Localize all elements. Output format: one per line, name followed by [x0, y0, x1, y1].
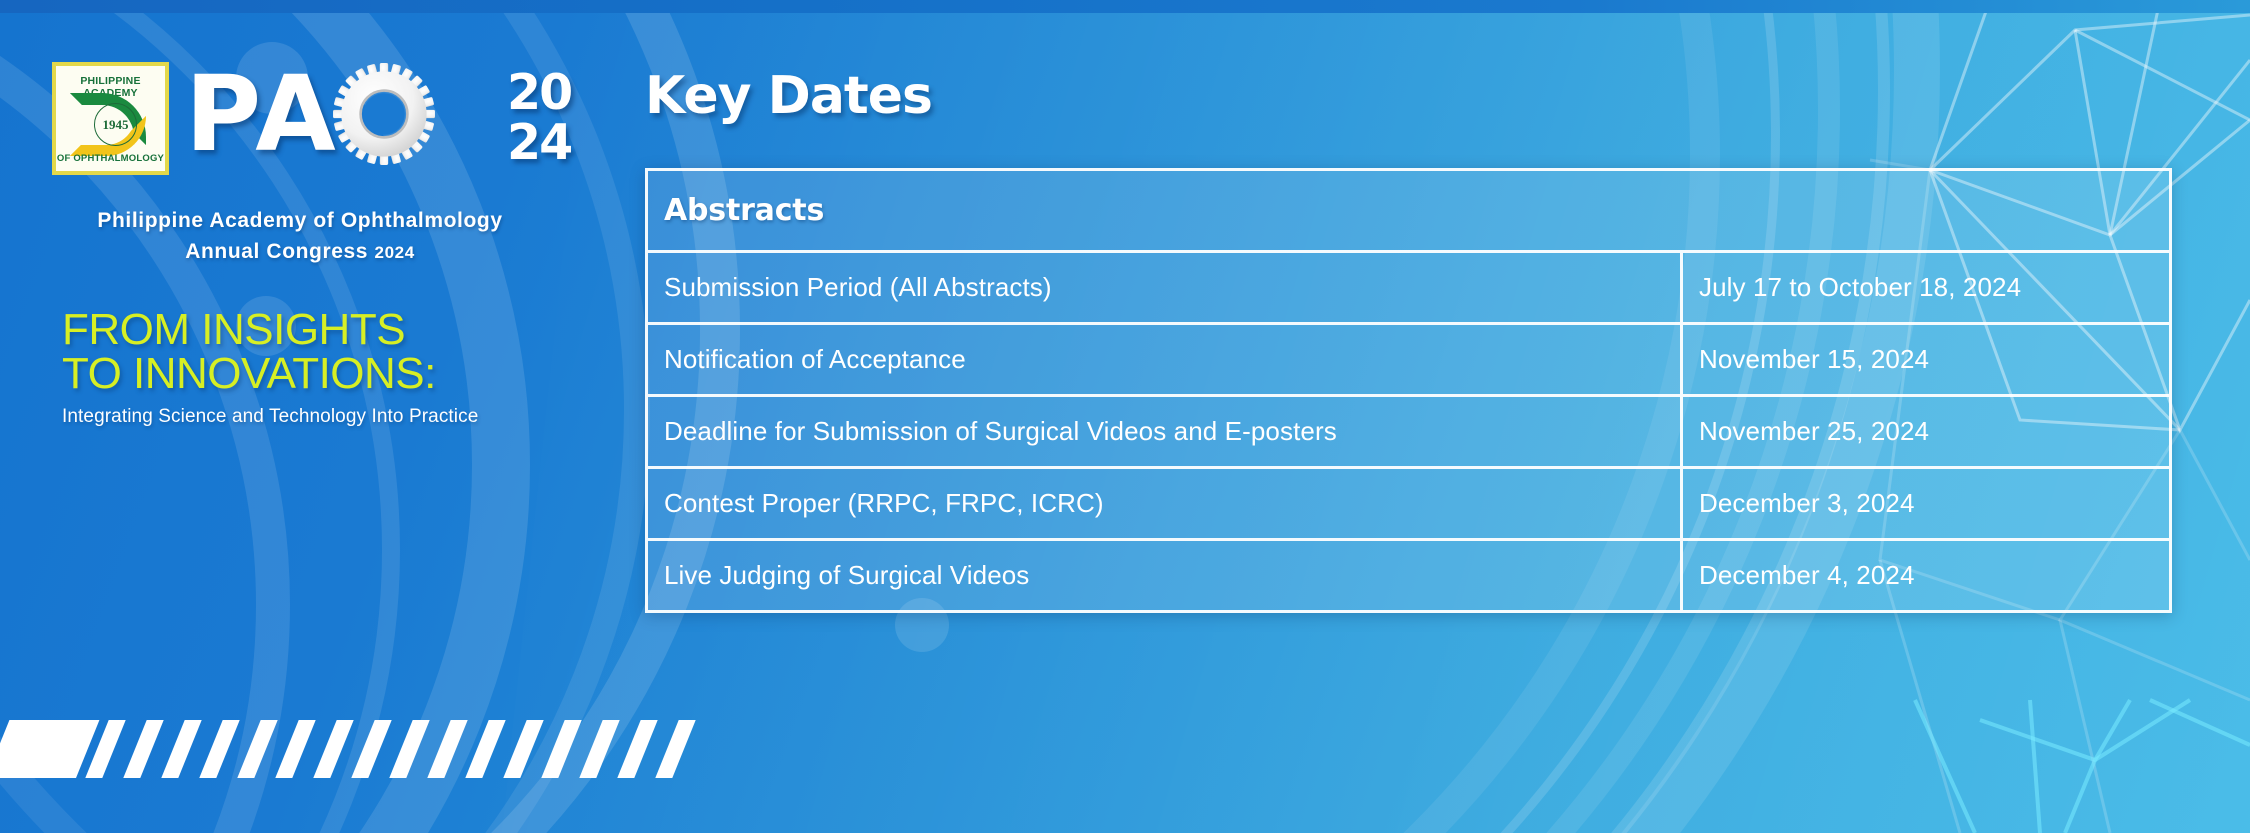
table-cell-date: December 4, 2024 — [1683, 541, 2169, 610]
seal-year: 1945 — [103, 117, 129, 133]
congress-subtheme: Integrating Science and Technology Into … — [62, 406, 478, 428]
table-row: Live Judging of Surgical Videos December… — [648, 538, 2169, 610]
table-cell-date: December 3, 2024 — [1683, 469, 2169, 538]
congress-line-2: Annual Congress 2024 — [0, 236, 600, 268]
key-dates-table: Abstracts Submission Period (All Abstrac… — [645, 168, 2172, 613]
table-cell-date: November 25, 2024 — [1683, 397, 2169, 466]
theme-line-2: TO INNOVATIONS: — [62, 352, 436, 396]
gear-icon — [332, 62, 436, 166]
date-value: December 3, 2024 — [1699, 488, 1915, 518]
table-section-header-cell: Abstracts — [648, 171, 2169, 250]
stripe — [579, 720, 619, 778]
table-row: Submission Period (All Abstracts) July 1… — [648, 250, 2169, 322]
seal-year-ring: 1945 — [94, 103, 137, 146]
pao-2024-key-dates-banner: PHILIPPINE ACADEMY 1945 OF OPHTHALMOLOGY… — [0, 0, 2250, 833]
congress-title: Philippine Academy of Ophthalmology Annu… — [0, 205, 600, 268]
stripe — [427, 720, 467, 778]
table-cell-date: November 15, 2024 — [1683, 325, 2169, 394]
wordmark-year-bottom: 24 — [507, 118, 571, 168]
stripe — [541, 720, 581, 778]
table-cell-event: Live Judging of Surgical Videos — [648, 541, 1683, 610]
table-cell-date: July 17 to October 18, 2024 — [1683, 253, 2169, 322]
pao-seal-logo: PHILIPPINE ACADEMY 1945 OF OPHTHALMOLOGY — [52, 62, 169, 175]
pao-letters: P A — [185, 62, 438, 166]
table-cell-event: Deadline for Submission of Surgical Vide… — [648, 397, 1683, 466]
congress-year: 2024 — [375, 243, 415, 262]
congress-theme: FROM INSIGHTS TO INNOVATIONS: — [62, 308, 436, 396]
stripe — [313, 720, 353, 778]
diagonal-stripe-graphic — [0, 720, 684, 778]
wordmark-year: 20 24 — [507, 68, 571, 168]
page-title: Key Dates — [645, 68, 932, 124]
table-cell-event: Submission Period (All Abstracts) — [648, 253, 1683, 322]
seal-bottom-text: OF OPHTHALMOLOGY — [56, 153, 165, 164]
wordmark-letter-a: A — [255, 62, 330, 166]
top-accent-band — [0, 0, 2250, 13]
wordmark-year-top: 20 — [507, 68, 571, 118]
stripe — [275, 720, 315, 778]
stripe — [161, 720, 201, 778]
event-label: Notification of Acceptance — [664, 344, 966, 374]
stripe — [351, 720, 391, 778]
stripe — [389, 720, 429, 778]
event-label: Deadline for Submission of Surgical Vide… — [664, 416, 1337, 446]
pao-2024-wordmark: P A — [185, 62, 438, 174]
date-value: December 4, 2024 — [1699, 560, 1915, 590]
table-section-header-label: Abstracts — [664, 193, 824, 228]
table-cell-event: Notification of Acceptance — [648, 325, 1683, 394]
event-label: Contest Proper (RRPC, FRPC, ICRC) — [664, 488, 1104, 518]
table-row: Contest Proper (RRPC, FRPC, ICRC) Decemb… — [648, 466, 2169, 538]
date-value: November 25, 2024 — [1699, 416, 1929, 446]
table-cell-event: Contest Proper (RRPC, FRPC, ICRC) — [648, 469, 1683, 538]
congress-line-2-text: Annual Congress — [185, 240, 374, 263]
table-header-row: Abstracts — [648, 171, 2169, 250]
congress-line-1: Philippine Academy of Ophthalmology — [0, 205, 600, 236]
stripe — [503, 720, 543, 778]
stripe — [123, 720, 163, 778]
stripe — [465, 720, 505, 778]
stripe — [199, 720, 239, 778]
table-row: Deadline for Submission of Surgical Vide… — [648, 394, 2169, 466]
theme-line-1: FROM INSIGHTS — [62, 308, 436, 352]
wordmark-letter-p: P — [185, 62, 255, 166]
date-value: July 17 to October 18, 2024 — [1699, 272, 2021, 302]
event-label: Submission Period (All Abstracts) — [664, 272, 1052, 302]
event-label: Live Judging of Surgical Videos — [664, 560, 1029, 590]
stripe-slab — [0, 720, 99, 778]
logo-row: PHILIPPINE ACADEMY 1945 OF OPHTHALMOLOGY… — [52, 62, 438, 175]
stripe — [617, 720, 657, 778]
table-row: Notification of Acceptance November 15, … — [648, 322, 2169, 394]
date-value: November 15, 2024 — [1699, 344, 1929, 374]
stripe — [237, 720, 277, 778]
